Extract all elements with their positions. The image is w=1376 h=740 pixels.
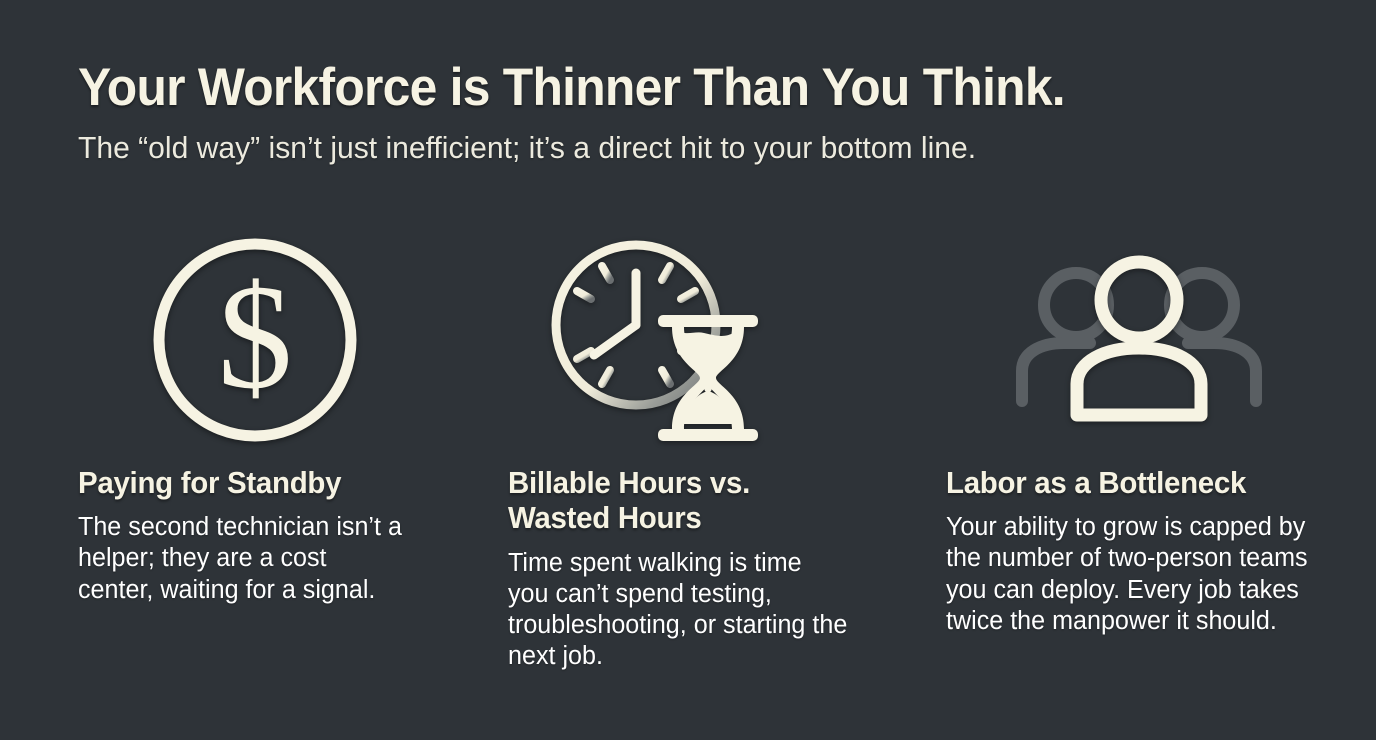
person-left-shape — [1022, 273, 1108, 401]
page-title: Your Workforce is Thinner Than You Think… — [78, 58, 1234, 117]
people-group-icon — [946, 215, 1316, 465]
card-columns: $ Paying for Standby The second technici… — [0, 215, 1376, 672]
person-right-shape — [1170, 273, 1256, 401]
card-body: Time spent walking is time you can’t spe… — [508, 548, 849, 672]
card-body: The second technician isn’t a helper; th… — [78, 512, 407, 605]
card-title: Paying for Standby — [78, 465, 395, 500]
card-body: Your ability to grow is capped by the nu… — [946, 512, 1310, 636]
card-title: Billable Hours vs. Wasted Hours — [508, 465, 837, 536]
header: Your Workforce is Thinner Than You Think… — [78, 58, 1308, 167]
card-paying-for-standby: $ Paying for Standby The second technici… — [0, 215, 440, 672]
card-billable-hours: Billable Hours vs. Wasted Hours Time spe… — [440, 215, 876, 672]
page-subtitle: The “old way” isn’t just inefficient; it… — [78, 129, 1271, 166]
slide-root: Your Workforce is Thinner Than You Think… — [0, 0, 1376, 740]
dollar-circle-icon: $ — [78, 215, 412, 465]
clock-hourglass-icon — [508, 215, 854, 465]
svg-text:$: $ — [218, 254, 293, 420]
card-labor-bottleneck: Labor as a Bottleneck Your ability to gr… — [876, 215, 1376, 672]
card-title: Labor as a Bottleneck — [946, 465, 1298, 500]
